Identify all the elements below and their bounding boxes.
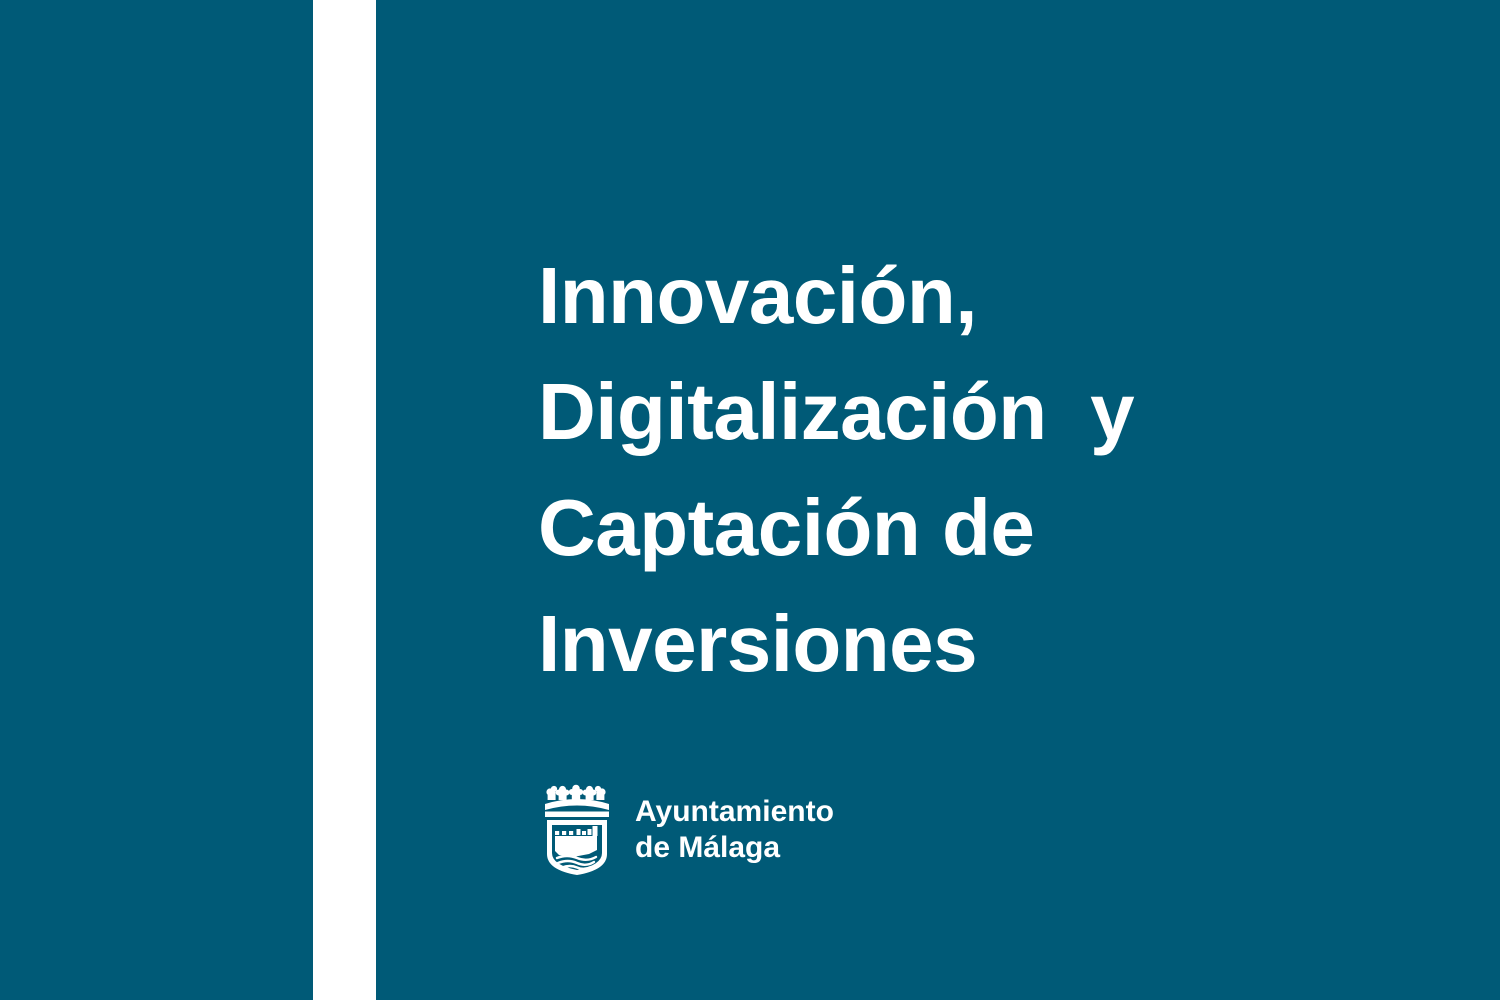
malaga-coat-of-arms-crest-icon <box>543 784 611 876</box>
left-teal-panel <box>0 0 313 1000</box>
title-line-1: Innovación, <box>538 238 1238 354</box>
ayuntamiento-de-malaga-logo: Ayuntamiento de Málaga <box>543 784 834 876</box>
logo-wordmark-line-1: Ayuntamiento <box>635 794 834 830</box>
title-line-3: Captación de <box>538 470 1238 586</box>
logo-wordmark-line-2: de Málaga <box>635 830 834 866</box>
title-line-2: Digitalización y <box>538 354 1238 470</box>
content-panel: Innovación, Digitalización y Captación d… <box>376 0 1500 1000</box>
page-title: Innovación, Digitalización y Captación d… <box>538 238 1238 702</box>
slide-canvas: Innovación, Digitalización y Captación d… <box>0 0 1500 1000</box>
logo-wordmark: Ayuntamiento de Málaga <box>635 794 834 866</box>
vertical-white-divider-stripe <box>313 0 376 1000</box>
title-line-4: Inversiones <box>538 586 1238 702</box>
